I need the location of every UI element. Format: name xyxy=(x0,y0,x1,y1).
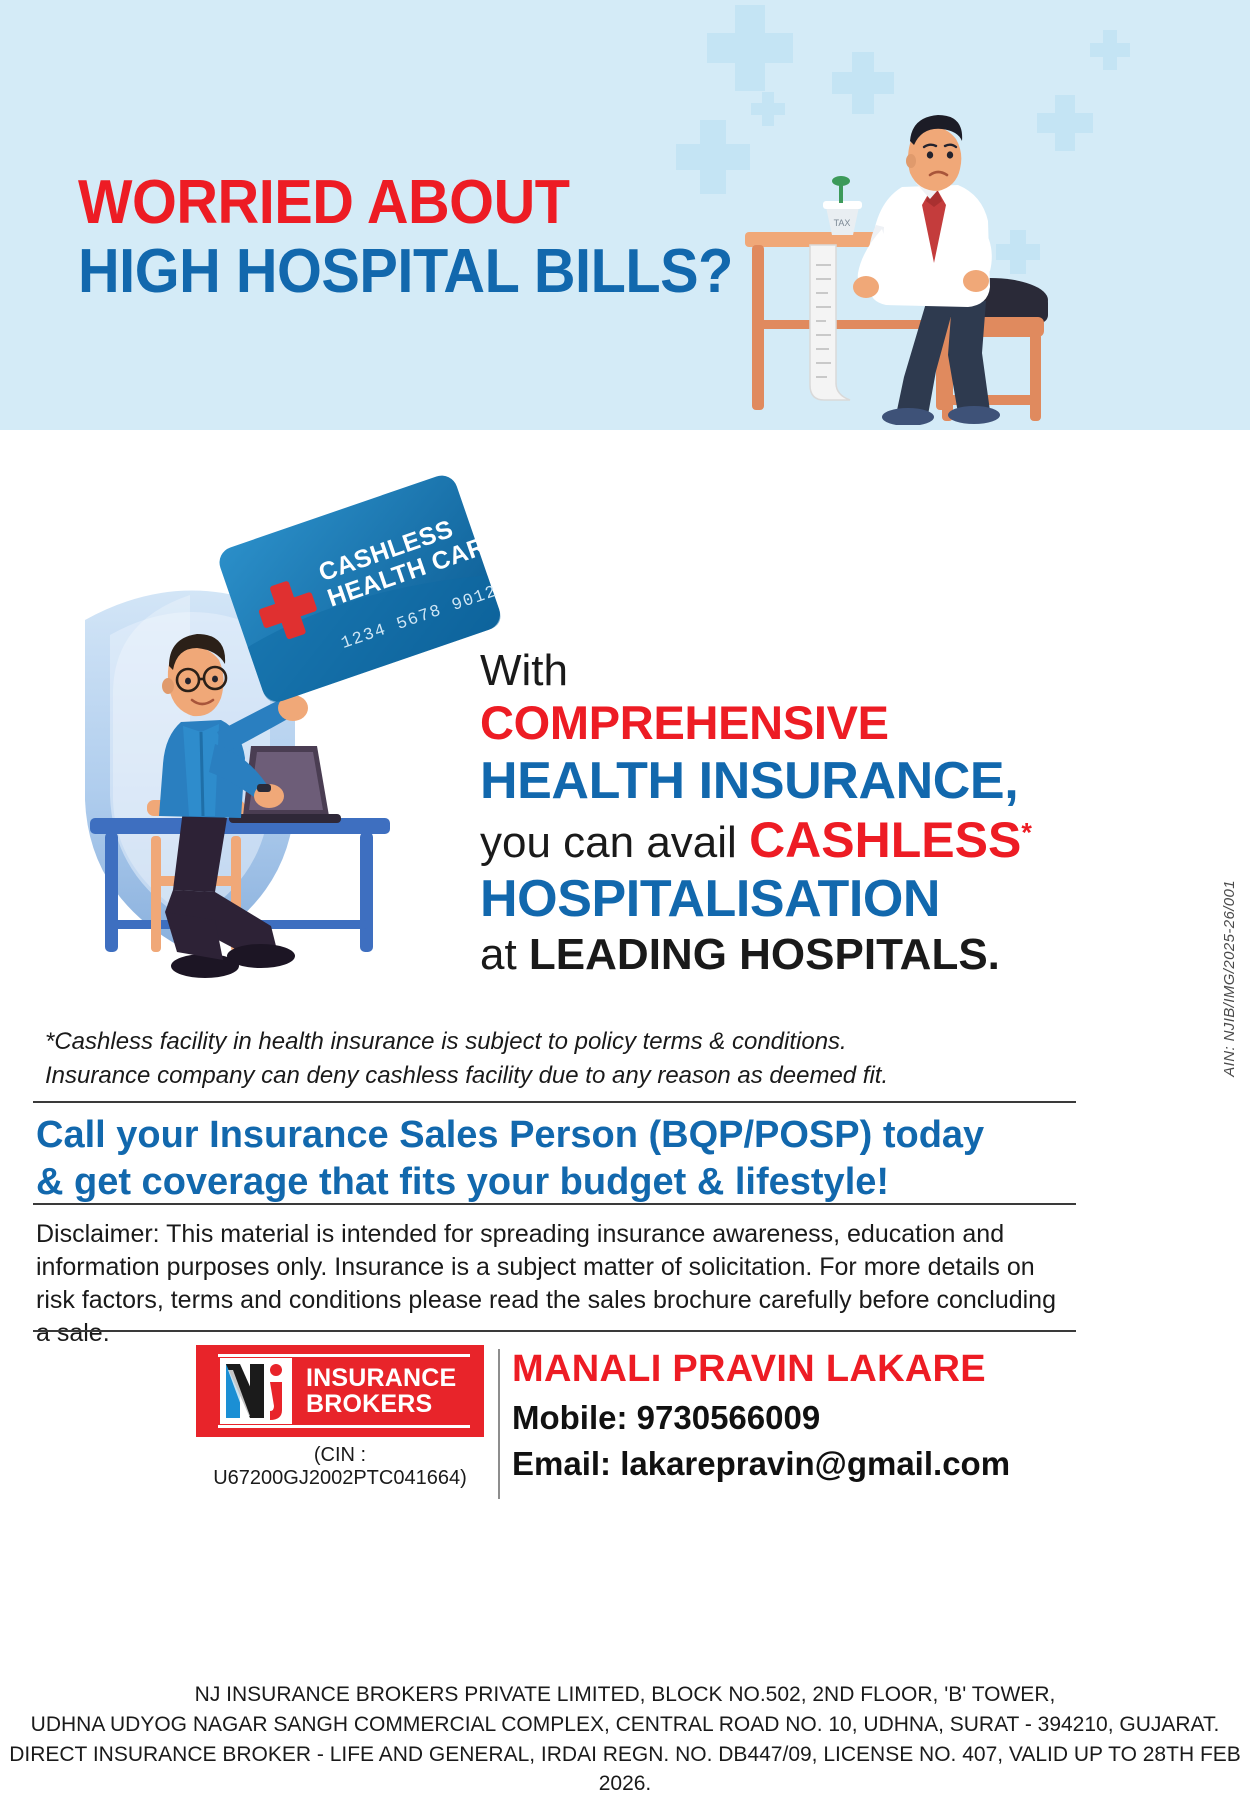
main-copy-block: With COMPREHENSIVE HEALTH INSURANCE, you… xyxy=(480,645,1080,980)
vertical-divider xyxy=(498,1349,500,1499)
hero-headline: WORRIED ABOUT HIGH HOSPITAL BILLS? xyxy=(78,168,782,307)
logo-word-brokers: BROKERS xyxy=(306,1391,456,1418)
hero-headline-line1: WORRIED ABOUT xyxy=(78,168,733,237)
logo-bottom-bar xyxy=(218,1425,470,1428)
copy-health-insurance: HEALTH INSURANCE, xyxy=(480,751,1080,811)
divider-rule-bottom xyxy=(33,1330,1076,1332)
footer-line2: UDHNA UDYOG NAGAR SANGH COMMERCIAL COMPL… xyxy=(0,1710,1250,1740)
copy-leading-hospitals: LEADING HOSPITALS. xyxy=(529,930,1000,979)
cashless-footnote: *Cashless facility in health insurance i… xyxy=(45,1025,1045,1093)
nj-logo-wrap: INSURANCE BROKERS (CIN : U67200GJ2002PTC… xyxy=(196,1345,484,1490)
copy-with: With xyxy=(480,645,1080,696)
copy-you-can-avail-cashless: you can avail CASHLESS* xyxy=(480,811,1080,869)
footnote-line2: Insurance company can deny cashless faci… xyxy=(45,1059,1045,1093)
cta-line2: & get coverage that fits your budget & l… xyxy=(36,1159,1076,1206)
cta-line1: Call your Insurance Sales Person (BQP/PO… xyxy=(36,1112,1076,1159)
footnote-line1: *Cashless facility in health insurance i… xyxy=(45,1025,1045,1059)
agent-email[interactable]: Email: lakarepravin@gmail.com xyxy=(512,1443,1132,1486)
nj-insurance-brokers-logo: INSURANCE BROKERS xyxy=(196,1345,484,1437)
hero-banner: WORRIED ABOUT HIGH HOSPITAL BILLS? xyxy=(0,0,1250,430)
nj-monogram-icon xyxy=(220,1358,292,1424)
logo-top-bar xyxy=(218,1354,470,1357)
copy-comprehensive: COMPREHENSIVE xyxy=(480,696,1080,751)
agent-name: MANALI PRAVIN LAKARE xyxy=(512,1347,1132,1393)
logo-wordmark: INSURANCE BROKERS xyxy=(306,1365,456,1418)
copy-asterisk: * xyxy=(1021,817,1032,847)
footer-line1: NJ INSURANCE BROKERS PRIVATE LIMITED, BL… xyxy=(0,1680,1250,1710)
divider-rule-middle xyxy=(33,1203,1076,1205)
copy-hospitalisation: HOSPITALISATION xyxy=(480,869,1080,929)
copy-at: at xyxy=(480,930,529,979)
hero-headline-line2: HIGH HOSPITAL BILLS? xyxy=(78,237,733,306)
copy-you-can-avail: you can avail xyxy=(480,818,749,867)
company-footer: NJ INSURANCE BROKERS PRIVATE LIMITED, BL… xyxy=(0,1680,1250,1799)
copy-cashless: CASHLESS xyxy=(749,812,1021,868)
call-to-action: Call your Insurance Sales Person (BQP/PO… xyxy=(36,1112,1076,1206)
copy-at-leading-hospitals: at LEADING HOSPITALS. xyxy=(480,929,1080,980)
agent-contact-block: MANALI PRAVIN LAKARE Mobile: 9730566009 … xyxy=(512,1347,1132,1486)
ain-code: AIN: NJIB/IMG/2025-26/001 xyxy=(1221,880,1238,1077)
logo-word-insurance: INSURANCE xyxy=(306,1365,456,1392)
svg-text:TAX: TAX xyxy=(834,218,851,228)
divider-rule-top xyxy=(33,1101,1076,1103)
worried-man-with-bill-illustration: TAX xyxy=(690,95,1090,425)
footer-line3: DIRECT INSURANCE BROKER - LIFE AND GENER… xyxy=(0,1740,1250,1799)
cin-number: (CIN : U67200GJ2002PTC041664) xyxy=(196,1444,484,1490)
brand-row: INSURANCE BROKERS (CIN : U67200GJ2002PTC… xyxy=(0,1345,1250,1520)
agent-mobile[interactable]: Mobile: 9730566009 xyxy=(512,1397,1132,1440)
